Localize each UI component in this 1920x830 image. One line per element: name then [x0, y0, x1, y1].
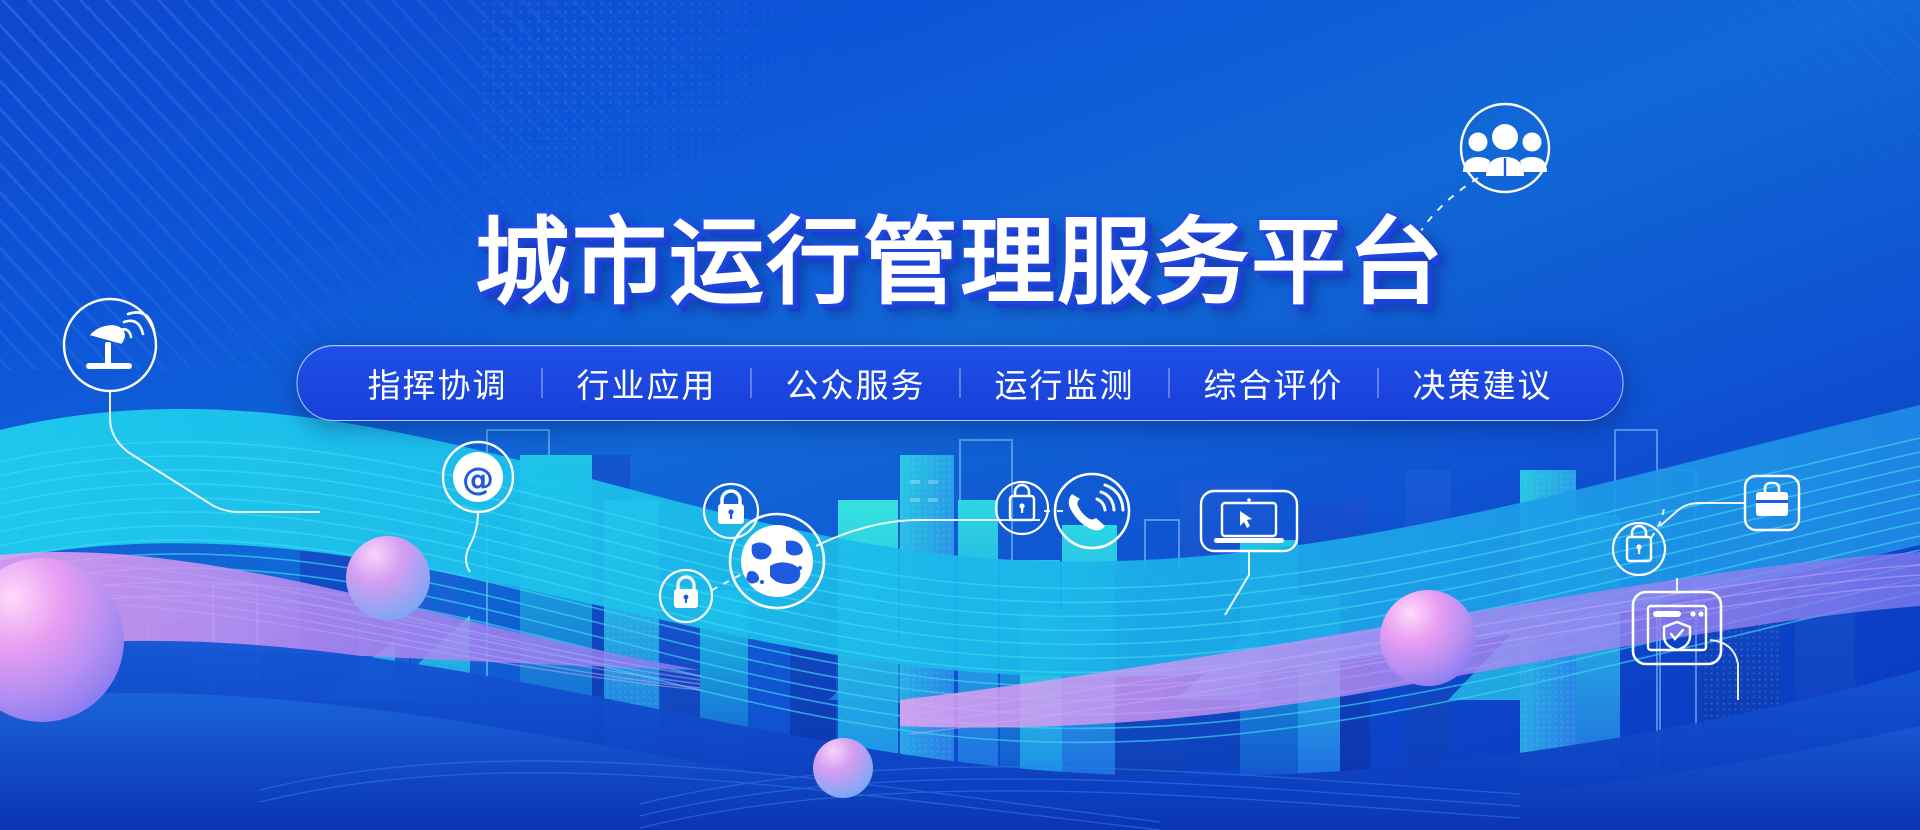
nav-item-6[interactable]: 决策建议	[1379, 359, 1587, 407]
globe-icon	[730, 514, 824, 608]
at-sign-icon: @	[443, 442, 513, 512]
page-title: 城市运行管理服务平台	[475, 216, 1445, 311]
lock-icon-far-right	[1613, 523, 1665, 575]
browser-shield-icon	[1633, 592, 1721, 664]
primary-nav-bar[interactable]: 指挥协调行业应用公众服务运行监测综合评价决策建议	[297, 345, 1624, 421]
nav-item-4[interactable]: 运行监测	[961, 359, 1169, 407]
lock-icon-lower	[660, 570, 712, 622]
briefcase-icon	[1745, 476, 1799, 530]
svg-text:@: @	[462, 460, 494, 498]
title-block: 城市运行管理服务平台	[0, 152, 1920, 374]
nav-item-1[interactable]: 指挥协调	[334, 359, 542, 407]
lock-icon-upper	[704, 484, 758, 538]
nav-item-5[interactable]: 综合评价	[1170, 359, 1378, 407]
laptop-cursor-icon	[1201, 491, 1297, 551]
lock-icon-right	[996, 482, 1048, 534]
nav-item-3[interactable]: 公众服务	[752, 359, 960, 407]
nav-item-2[interactable]: 行业应用	[543, 359, 751, 407]
city-operation-banner: @	[0, 0, 1920, 830]
phone-call-icon	[1055, 474, 1129, 548]
